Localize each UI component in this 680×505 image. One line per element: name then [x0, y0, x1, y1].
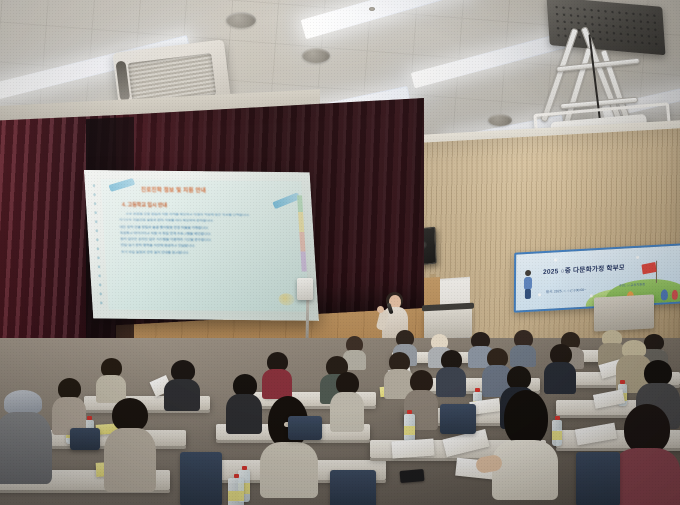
person-body	[492, 440, 558, 500]
banner-snow-dot	[636, 256, 639, 259]
stage-equipment-box	[297, 278, 313, 300]
bottle-label	[404, 426, 415, 436]
person-body	[330, 392, 364, 432]
smartphone[interactable]	[400, 469, 425, 483]
audience-member	[510, 330, 536, 364]
audience-member	[492, 390, 558, 496]
person-hair	[112, 398, 148, 432]
banner-child-figure	[661, 289, 668, 300]
audience-member	[104, 398, 156, 490]
audience-member	[262, 352, 292, 396]
person-body	[0, 412, 52, 484]
photo-scene: 2025 ○중 다문화가정 학부모 대상 진학설명회 일시: 2025. ○. …	[0, 0, 680, 505]
projection-screen: 진로진학 정보 및 지원 안내 4. 고등학교 입시 안내 고교 유형별 전형 …	[84, 170, 319, 321]
chair[interactable]	[440, 404, 476, 434]
person-cap	[4, 390, 42, 414]
chair[interactable]	[70, 428, 100, 450]
audience-member	[260, 396, 318, 494]
person-body	[164, 379, 200, 411]
banner-main-text: 2025 ○중 다문화가정 학부모 대상 진학설명회	[543, 262, 624, 277]
person-body	[612, 448, 680, 505]
chair[interactable]	[180, 452, 222, 505]
water-bottle[interactable]	[228, 478, 244, 505]
audience-member	[330, 372, 364, 428]
audience-member	[52, 378, 86, 432]
audience-member	[164, 360, 200, 408]
handout-white[interactable]	[391, 439, 434, 459]
person-body	[104, 428, 156, 492]
bottle-cap	[620, 380, 625, 384]
banner-snow-dot	[554, 258, 557, 261]
audience-member	[226, 374, 262, 430]
screen-sheen	[84, 170, 319, 321]
side-cabinet	[594, 294, 654, 331]
banner-figure-legs	[525, 289, 531, 299]
person-body	[510, 345, 536, 367]
bottle-cap	[234, 474, 239, 478]
audience-member	[0, 390, 52, 480]
audience-member	[544, 344, 576, 392]
person-body	[436, 367, 466, 397]
chair[interactable]	[288, 416, 322, 440]
person-hair	[504, 390, 548, 446]
audience-member	[96, 358, 126, 400]
bottle-label	[228, 491, 244, 501]
person-body	[226, 394, 262, 434]
banner-flag	[641, 262, 656, 275]
bottle-cap	[475, 388, 480, 392]
banner-child-figure	[672, 290, 678, 300]
banner-adult-figure	[522, 270, 534, 301]
banner-sub-left: 일시: 2025. ○. ○.(○) 00:00~	[546, 287, 586, 294]
chair[interactable]	[330, 470, 376, 505]
person-body	[262, 369, 292, 399]
audience-member	[612, 404, 680, 505]
person-hair	[624, 404, 670, 454]
chair[interactable]	[576, 452, 620, 505]
bottle-cap	[87, 416, 92, 420]
water-bottle[interactable]	[404, 414, 415, 442]
presenter-hand	[377, 306, 384, 313]
audience-member	[436, 350, 466, 394]
podium-top	[422, 303, 474, 312]
banner-figure-head	[525, 270, 531, 276]
bottle-cap	[407, 410, 412, 414]
person-body	[260, 442, 318, 498]
banner-snow-dot	[538, 293, 541, 296]
bottle-cap	[242, 466, 247, 470]
